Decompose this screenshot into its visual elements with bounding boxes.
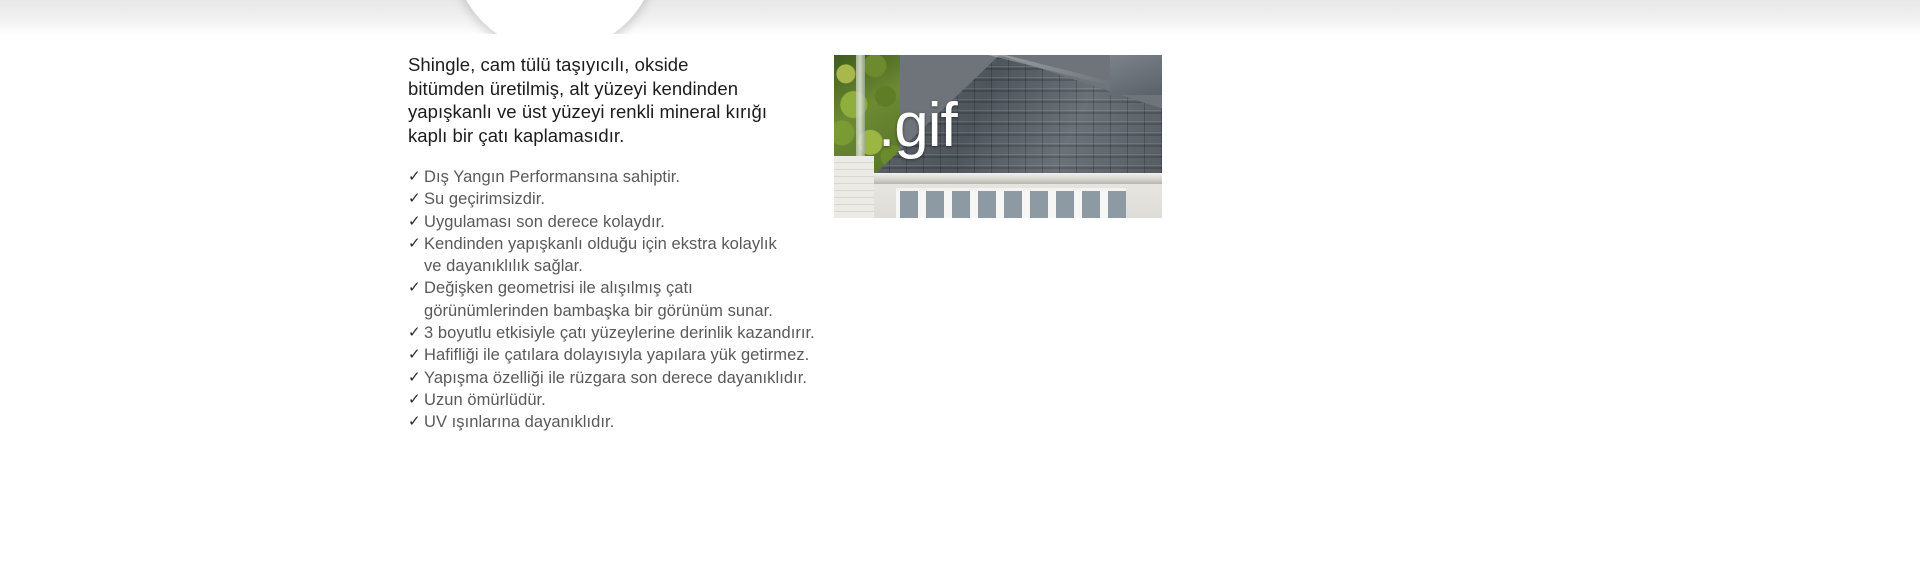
check-icon: ✓	[408, 211, 421, 233]
feature-list-item-label: 3 boyutlu etkisiyle çatı yüzeylerine der…	[424, 324, 815, 342]
feature-list-item: ✓3 boyutlu etkisiyle çatı yüzeylerine de…	[408, 322, 828, 344]
gif-watermark: .gif	[878, 95, 957, 157]
feature-list-item: ✓Hafifliği ile çatılara dolayısıyla yapı…	[408, 344, 828, 366]
check-icon: ✓	[408, 411, 421, 433]
feature-list: ✓Dış Yangın Performansına sahiptir.✓Su g…	[408, 166, 828, 434]
feature-list-item-label: Su geçirimsizdir.	[424, 190, 545, 208]
feature-list-item-label: Yapışma özelliği ile rüzgara son derece …	[424, 369, 807, 387]
feature-list-item-label: Değişken geometrisi ile alışılmış çatı g…	[424, 279, 773, 319]
check-icon: ✓	[408, 188, 421, 210]
feature-list-item: ✓Dış Yangın Performansına sahiptir.	[408, 166, 828, 188]
feature-list-item-label: Uzun ömürlüdür.	[424, 391, 546, 409]
feature-list-item: ✓Kendinden yapışkanlı olduğu için ekstra…	[408, 233, 828, 278]
feature-list-item-label: Kendinden yapışkanlı olduğu için ekstra …	[424, 235, 777, 275]
intro-paragraph: Shingle, cam tülü taşıyıcılı, okside bit…	[408, 53, 768, 147]
feature-list-item: ✓UV ışınlarına dayanıklıdır.	[408, 411, 828, 433]
feature-list-item: ✓Uygulaması son derece kolaydır.	[408, 211, 828, 233]
roof-photo: .gif	[834, 55, 1162, 218]
fascia-layer	[872, 173, 1162, 184]
window-band-layer	[896, 188, 1126, 218]
check-icon: ✓	[408, 367, 421, 389]
tree-trunk-layer	[856, 55, 865, 167]
check-icon: ✓	[408, 233, 421, 255]
feature-list-item: ✓Yapışma özelliği ile rüzgara son derece…	[408, 367, 828, 389]
text-column: Shingle, cam tülü taşıyıcılı, okside bit…	[408, 53, 828, 434]
feature-list-item: ✓Uzun ömürlüdür.	[408, 389, 828, 411]
check-icon: ✓	[408, 389, 421, 411]
main-content: Shingle, cam tülü taşıyıcılı, okside bit…	[0, 34, 1920, 565]
check-icon: ✓	[408, 277, 421, 299]
feature-list-item-label: Dış Yangın Performansına sahiptir.	[424, 168, 680, 186]
check-icon: ✓	[408, 322, 421, 344]
feature-list-item: ✓Değişken geometrisi ile alışılmış çatı …	[408, 277, 828, 322]
top-decorative-band	[0, 0, 1920, 34]
feature-list-item-label: UV ışınlarına dayanıklıdır.	[424, 413, 614, 431]
feature-list-item-label: Uygulaması son derece kolaydır.	[424, 213, 665, 231]
side-siding-layer	[834, 156, 874, 218]
feature-list-item-label: Hafifliği ile çatılara dolayısıyla yapıl…	[424, 346, 809, 364]
check-icon: ✓	[408, 344, 421, 366]
roof-return-layer	[1110, 55, 1162, 95]
feature-list-item: ✓Su geçirimsizdir.	[408, 188, 828, 210]
white-circle-decoration	[453, 0, 657, 34]
check-icon: ✓	[408, 166, 421, 188]
